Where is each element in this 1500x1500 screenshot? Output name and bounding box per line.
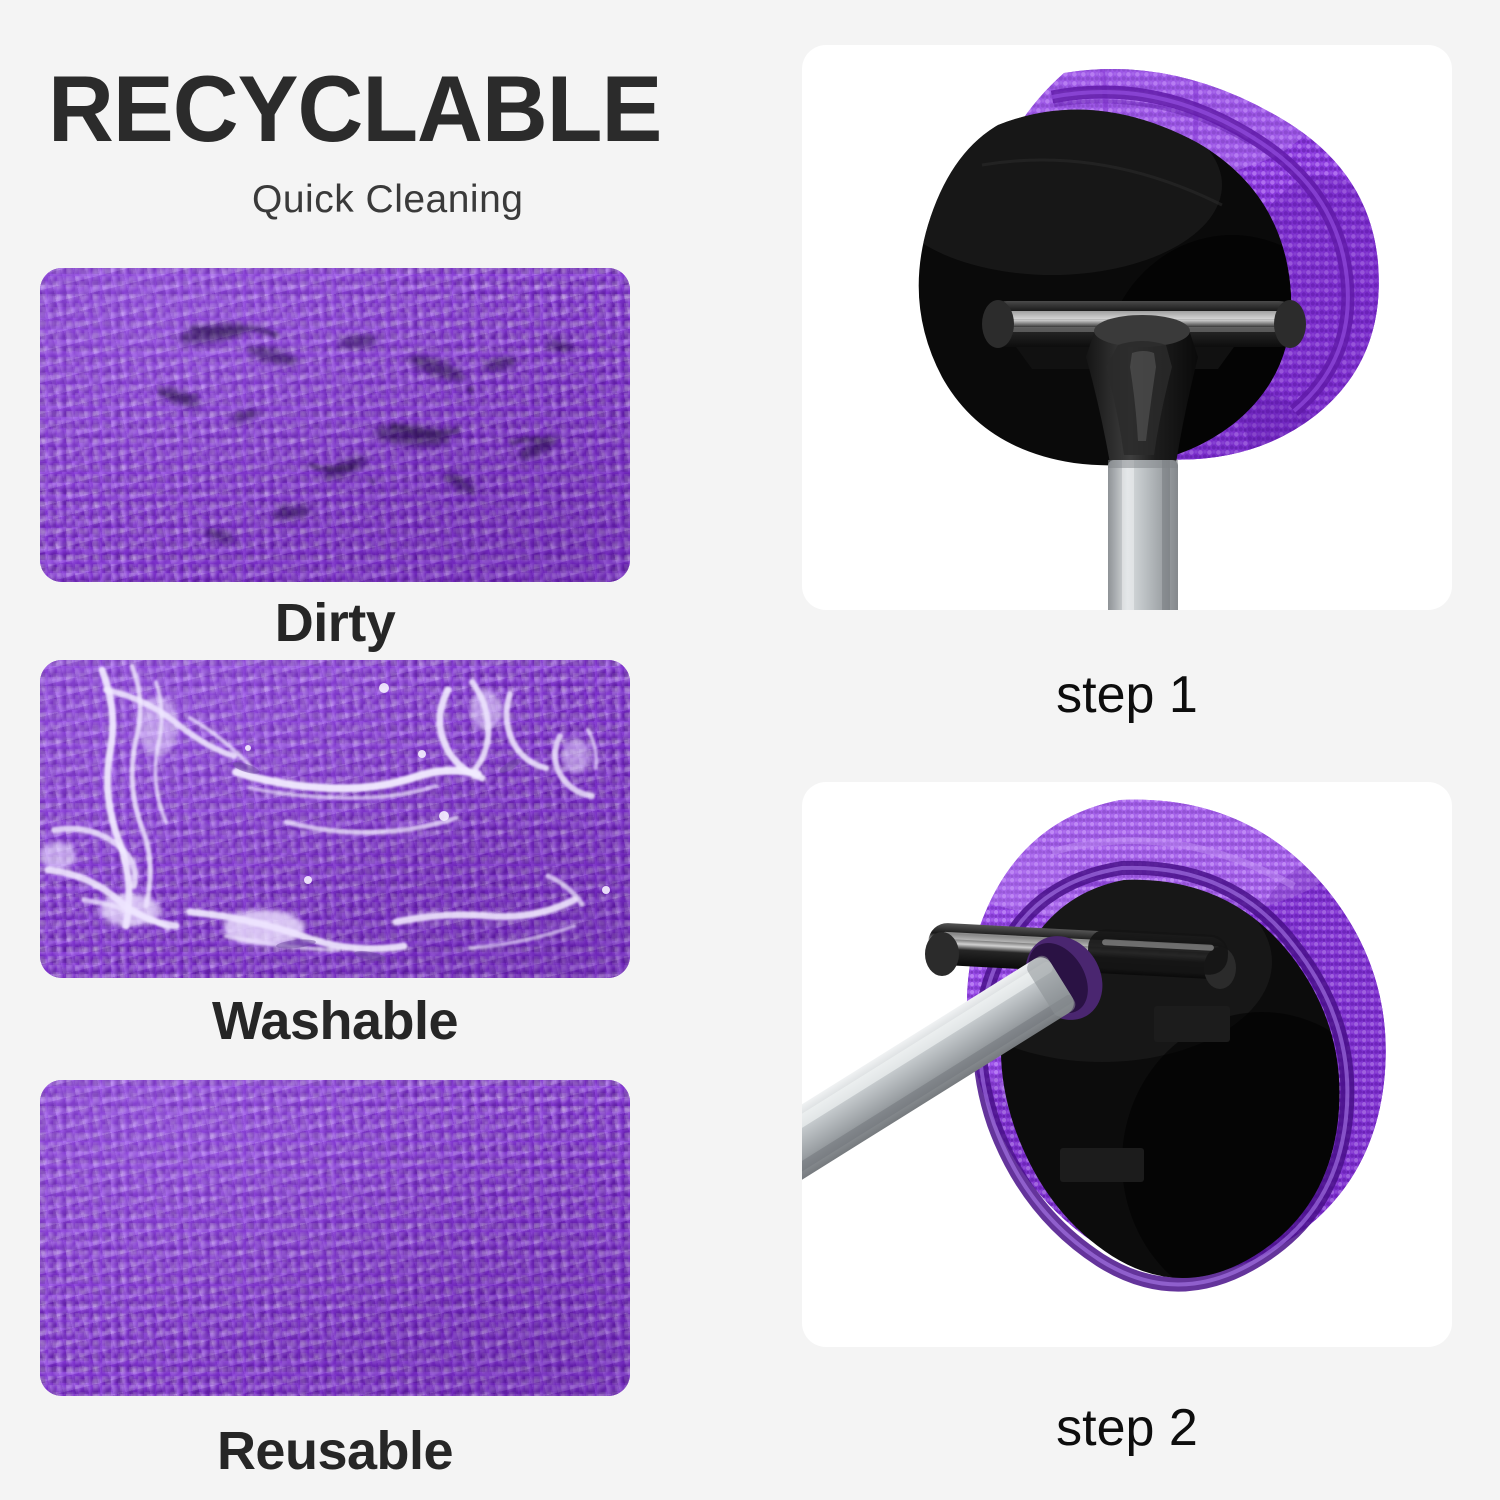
feature-image-dirty bbox=[40, 268, 630, 582]
step-label-2: step 2 bbox=[802, 1398, 1452, 1458]
velcro-strip-bottom bbox=[1060, 1148, 1144, 1182]
feature-label-washable: Washable bbox=[40, 990, 630, 1052]
feature-image-reusable bbox=[40, 1080, 630, 1396]
dirt-smudge-overlay bbox=[40, 268, 630, 582]
velcro-strip-top bbox=[1154, 1006, 1230, 1042]
microfiber-texture bbox=[40, 1080, 630, 1396]
step-image-2 bbox=[802, 782, 1452, 1347]
water-splash-overlay bbox=[40, 660, 630, 978]
step-image-1 bbox=[802, 45, 1452, 610]
feature-label-reusable: Reusable bbox=[40, 1420, 630, 1482]
mop-pole bbox=[1108, 460, 1178, 610]
mop-attach-illustration bbox=[802, 45, 1452, 610]
feature-label-dirty: Dirty bbox=[40, 592, 630, 654]
step-label-1: step 1 bbox=[802, 665, 1452, 725]
mop-covered-illustration bbox=[802, 782, 1452, 1347]
page-title: RECYCLABLE bbox=[48, 60, 661, 159]
page-subtitle: Quick Cleaning bbox=[252, 178, 523, 222]
product-infographic: RECYCLABLE Quick Cleaning bbox=[0, 0, 1500, 1500]
feature-image-washable bbox=[40, 660, 630, 978]
